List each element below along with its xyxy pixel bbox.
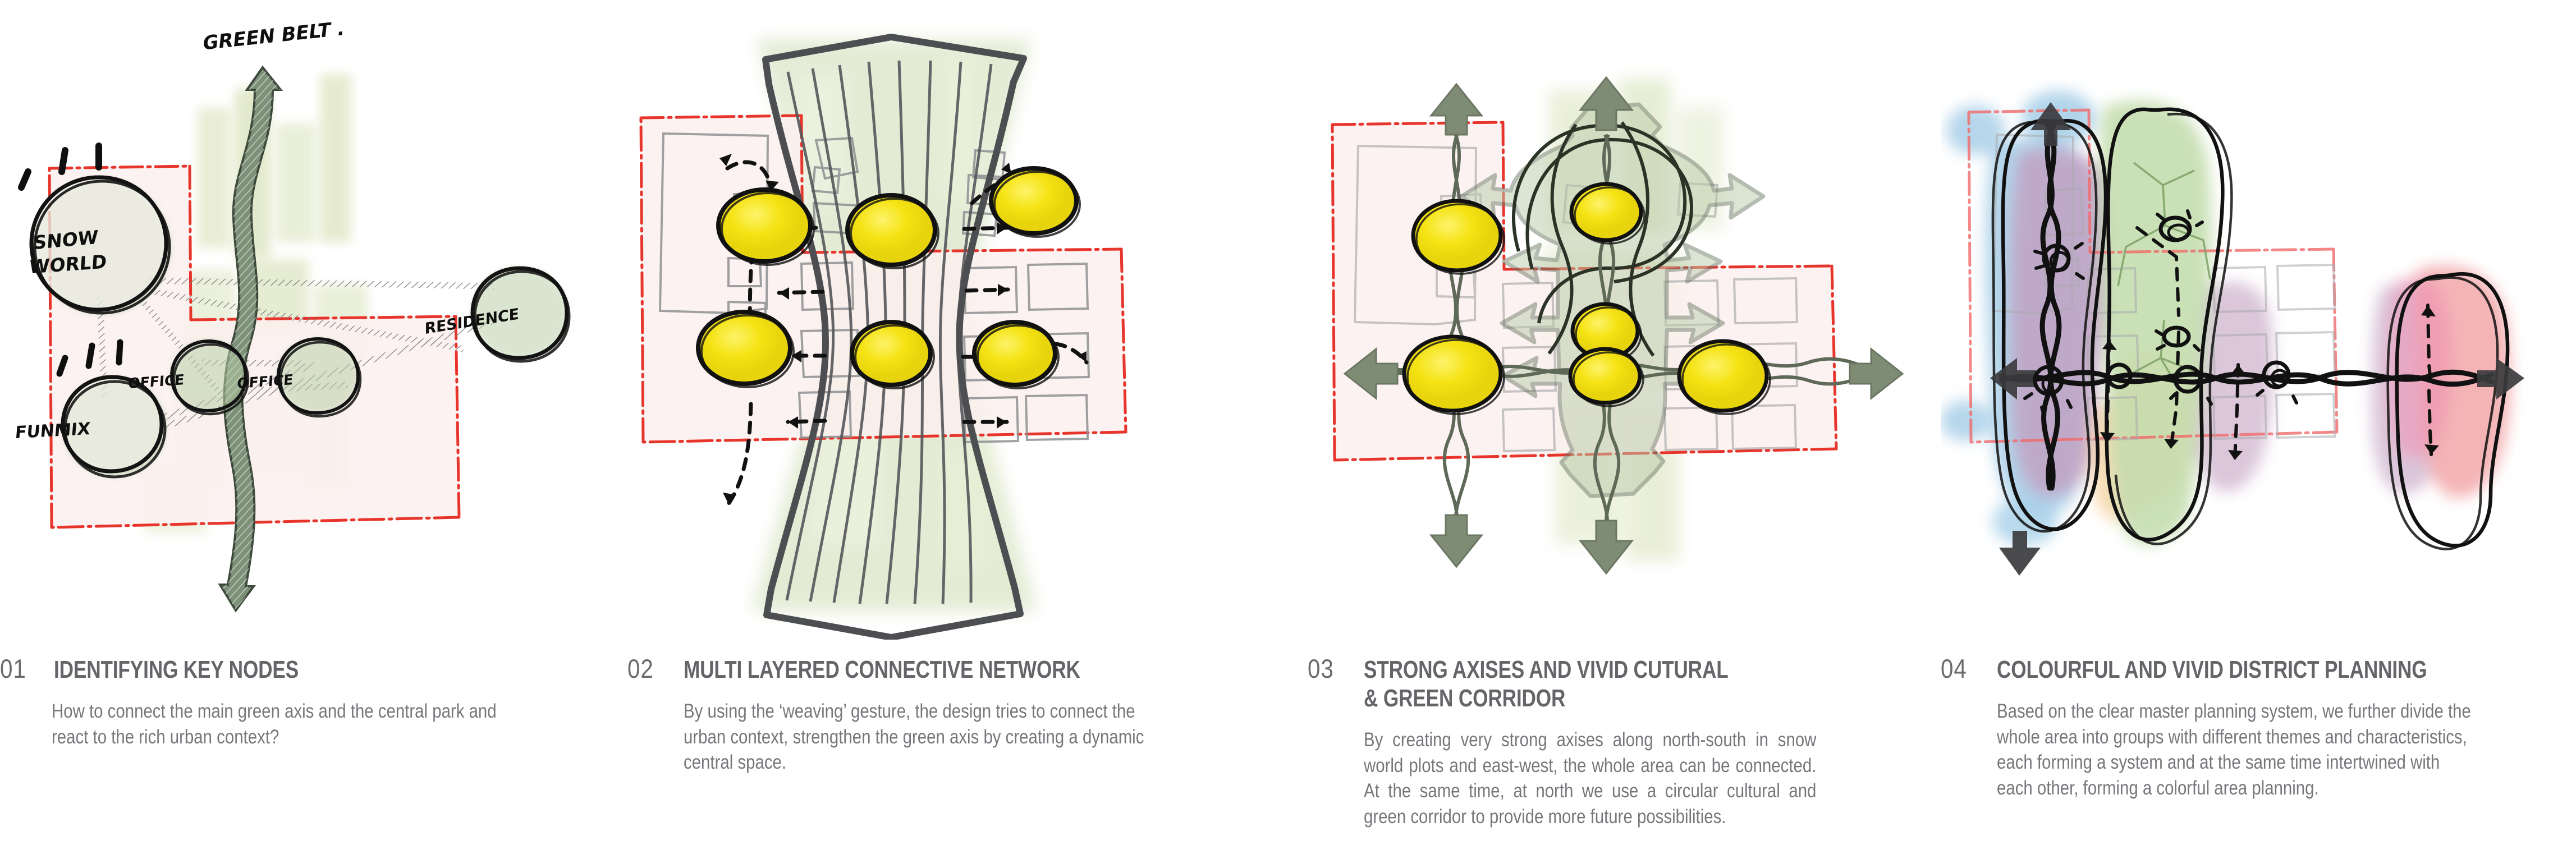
caption-title: IDENTIFYING KEY NODES xyxy=(54,655,527,684)
svg-text:FUNMIX: FUNMIX xyxy=(14,419,91,443)
node-lower-right xyxy=(974,322,1058,388)
colourful-vivid-district-planning-diagram xyxy=(1941,6,2576,640)
node-upper-left xyxy=(718,190,814,265)
caption-body: How to connect the main green axis and t… xyxy=(52,699,528,750)
caption-number: 02 xyxy=(627,655,676,682)
node-lower-left xyxy=(698,312,794,387)
east-arrow xyxy=(1850,349,1903,398)
node-upper-center xyxy=(847,195,938,268)
strong-axises-green-corridor-diagram xyxy=(1308,6,1953,640)
caption-number: 01 xyxy=(0,655,47,682)
node-upper-right xyxy=(991,168,1080,237)
caption-02: 02 MULTI LAYERED CONNECTIVE NETWORK By u… xyxy=(627,655,1273,775)
panel-02: 02 MULTI LAYERED CONNECTIVE NETWORK By u… xyxy=(627,0,1273,859)
multi-layered-connective-network-diagram xyxy=(627,6,1273,640)
south-arrow xyxy=(1431,515,1482,567)
caption-number: 03 xyxy=(1308,655,1356,682)
caption-03: 03 STRONG AXISES AND VIVID CUTURAL & GRE… xyxy=(1308,655,1953,829)
caption-title: COLOURFUL AND VIVID DISTRICT PLANNING xyxy=(1997,655,2468,684)
caption-01: 01 IDENTIFYING KEY NODES How to connect … xyxy=(0,655,645,750)
caption-title: MULTI LAYERED CONNECTIVE NETWORK xyxy=(684,655,1155,684)
node-lower-center xyxy=(852,322,934,388)
district-colour-washes xyxy=(1941,91,2510,545)
idea-diagram-board: SNOW WORLD FUNMIX xyxy=(0,0,2576,859)
identifying-key-nodes-diagram: SNOW WORLD FUNMIX xyxy=(0,6,645,640)
panel-03: 03 STRONG AXISES AND VIVID CUTURAL & GRE… xyxy=(1308,0,1953,859)
green-belt-label: GREEN BELT . xyxy=(201,17,346,55)
caption-body: Based on the clear master planning syste… xyxy=(1997,699,2473,801)
caption-04: 04 COLOURFUL AND VIVID DISTRICT PLANNING… xyxy=(1941,655,2576,801)
panel-01: SNOW WORLD FUNMIX xyxy=(0,0,645,859)
panel-04: 04 COLOURFUL AND VIVID DISTRICT PLANNING… xyxy=(1941,0,2576,859)
caption-body: By creating very strong axises along nor… xyxy=(1364,727,1816,829)
caption-body: By using the ‘weaving’ gesture, the desi… xyxy=(684,699,1159,775)
caption-number: 04 xyxy=(1941,655,1989,682)
caption-title: STRONG AXISES AND VIVID CUTURAL & GREEN … xyxy=(1364,655,1835,713)
